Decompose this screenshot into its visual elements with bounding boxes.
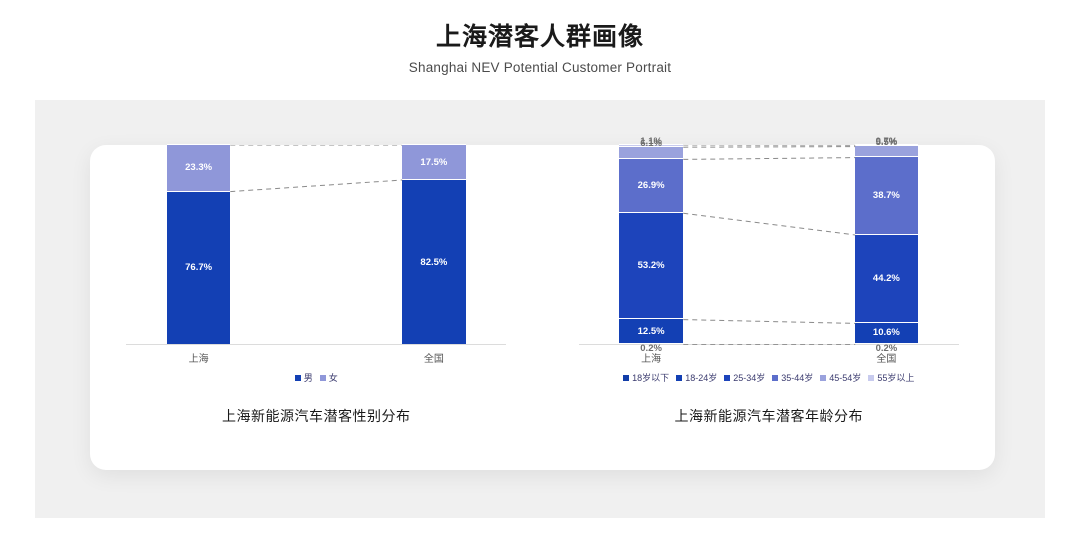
chart-gender: 76.7%23.3%上海82.5%17.5%全国 男女 上海新能源汽车潜客性别分… <box>90 145 543 470</box>
bar-segment-label: 17.5% <box>420 157 447 168</box>
bar-segment: 5.5% <box>855 145 918 156</box>
chart-age: 0.2%12.5%53.2%26.9%6.1%1.1%上海0.2%10.6%44… <box>543 145 996 470</box>
bar-segment: 6.1% <box>619 146 682 158</box>
legend-item-age-2[interactable]: 25-34岁 <box>724 371 765 384</box>
bar-segment: 17.5% <box>402 144 465 179</box>
page-subtitle: Shanghai NEV Potential Customer Portrait <box>0 60 1080 75</box>
bar-segment-label: 23.3% <box>185 162 212 173</box>
bar-segment: 44.2% <box>855 234 918 322</box>
bar-age-0: 0.2%12.5%53.2%26.9%6.1%1.1%上海 <box>619 144 682 344</box>
connector-lines-gender <box>90 145 543 345</box>
bar-gender-1: 82.5%17.5%全国 <box>402 144 465 344</box>
bar-segment-label: 12.5% <box>638 326 665 337</box>
bar-segment: 76.7% <box>167 191 230 344</box>
legend-swatch-icon <box>868 375 874 381</box>
category-label: 全国 <box>424 350 444 365</box>
plot-area-gender: 76.7%23.3%上海82.5%17.5%全国 <box>90 145 543 345</box>
legend-item-age-0[interactable]: 18岁以下 <box>623 371 669 384</box>
bar-segment: 53.2% <box>619 212 682 318</box>
legend-swatch-icon <box>295 375 301 381</box>
bar-age-1: 0.2%10.6%44.2%38.7%5.5%0.7%全国 <box>855 144 918 344</box>
bar-segment: 0.7% <box>855 144 918 145</box>
chart-caption-age: 上海新能源汽车潜客年龄分布 <box>675 406 864 426</box>
legend-swatch-icon <box>320 375 326 381</box>
bar-segment: 12.5% <box>619 318 682 343</box>
bar-segment-label: 44.2% <box>873 273 900 284</box>
bar-segment: 26.9% <box>619 158 682 212</box>
x-axis-line <box>126 344 506 345</box>
legend-gender: 男女 <box>295 371 338 384</box>
x-axis-line <box>579 344 959 345</box>
bar-segment-label: 76.7% <box>185 262 212 273</box>
legend-label: 男 <box>304 371 313 384</box>
bar-segment: 0.2% <box>619 343 682 344</box>
page-title: 上海潜客人群画像 <box>0 22 1080 53</box>
bar-segment: 10.6% <box>855 322 918 343</box>
bar-segment-label: 26.9% <box>638 180 665 191</box>
legend-label: 18岁以下 <box>632 371 669 384</box>
bar-segment-label: 53.2% <box>638 260 665 271</box>
legend-swatch-icon <box>623 375 629 381</box>
plot-area-age: 0.2%12.5%53.2%26.9%6.1%1.1%上海0.2%10.6%44… <box>543 145 996 345</box>
legend-item-age-3[interactable]: 35-44岁 <box>772 371 813 384</box>
bar-segment-label: 1.1% <box>640 136 662 147</box>
legend-label: 25-34岁 <box>733 371 765 384</box>
legend-item-age-4[interactable]: 45-54岁 <box>820 371 861 384</box>
charts-row: 76.7%23.3%上海82.5%17.5%全国 男女 上海新能源汽车潜客性别分… <box>90 145 995 470</box>
bar-segment: 23.3% <box>167 144 230 191</box>
bar-segment-label: 0.2% <box>876 343 898 354</box>
legend-swatch-icon <box>676 375 682 381</box>
bar-segment-label: 38.7% <box>873 190 900 201</box>
bar-gender-0: 76.7%23.3%上海 <box>167 144 230 344</box>
bar-segment-label: 0.7% <box>876 136 898 147</box>
legend-item-age-5[interactable]: 55岁以上 <box>868 371 914 384</box>
legend-label: 18-24岁 <box>685 371 717 384</box>
bar-segment: 0.2% <box>855 343 918 344</box>
legend-label: 女 <box>329 371 338 384</box>
legend-item-gender-0[interactable]: 男 <box>295 371 313 384</box>
bar-segment: 82.5% <box>402 179 465 344</box>
legend-swatch-icon <box>772 375 778 381</box>
page-header: 上海潜客人群画像 Shanghai NEV Potential Customer… <box>0 0 1080 75</box>
bar-segment-label: 82.5% <box>420 257 447 268</box>
category-label: 上海 <box>189 350 209 365</box>
legend-age: 18岁以下18-24岁25-34岁35-44岁45-54岁55岁以上 <box>623 371 914 384</box>
legend-label: 45-54岁 <box>829 371 861 384</box>
chart-caption-gender: 上海新能源汽车潜客性别分布 <box>222 406 411 426</box>
bar-segment: 38.7% <box>855 156 918 233</box>
bar-segment-label: 10.6% <box>873 327 900 338</box>
legend-item-gender-1[interactable]: 女 <box>320 371 338 384</box>
connector-lines-age <box>543 145 996 345</box>
bar-segment: 1.1% <box>619 144 682 146</box>
legend-swatch-icon <box>724 375 730 381</box>
legend-swatch-icon <box>820 375 826 381</box>
bar-segment-label: 0.2% <box>640 343 662 354</box>
legend-item-age-1[interactable]: 18-24岁 <box>676 371 717 384</box>
legend-label: 35-44岁 <box>781 371 813 384</box>
legend-label: 55岁以上 <box>877 371 914 384</box>
